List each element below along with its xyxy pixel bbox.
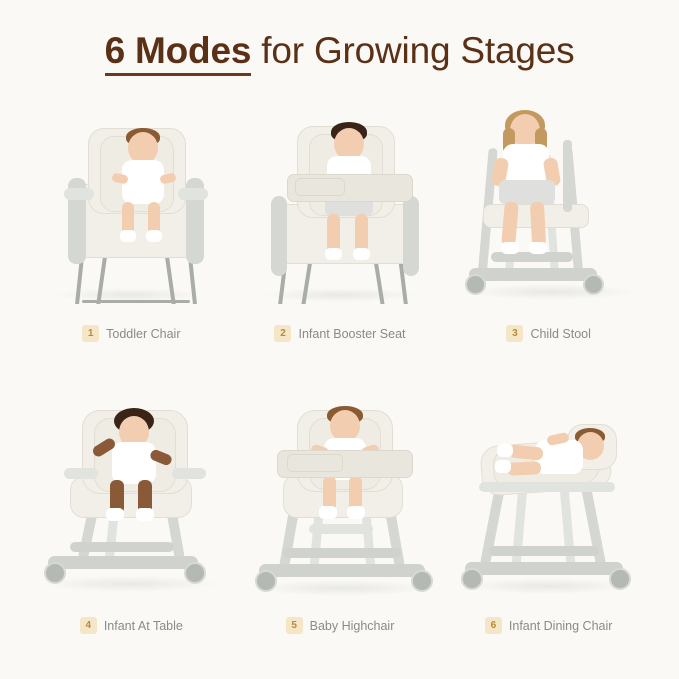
mode-badge-5: 5: [286, 617, 303, 634]
mode-card-1: 1 Toddler Chair: [30, 92, 233, 342]
mode-card-4: 4 Infant At Table: [30, 384, 233, 634]
mode-image-baby-highchair: [239, 384, 442, 596]
mode-label-4: Infant At Table: [104, 619, 183, 633]
mode-caption-5: 5 Baby Highchair: [239, 617, 442, 634]
mode-caption-3: 3 Child Stool: [447, 325, 650, 342]
mode-label-2: Infant Booster Seat: [298, 327, 405, 341]
modes-grid: 1 Toddler Chair: [30, 92, 650, 634]
mode-caption-4: 4 Infant At Table: [30, 617, 233, 634]
page-title-rest: for Growing Stages: [251, 30, 574, 71]
mode-image-child-stool: [447, 92, 650, 304]
mode-caption-1: 1 Toddler Chair: [30, 325, 233, 342]
mode-caption-6: 6 Infant Dining Chair: [447, 617, 650, 634]
mode-badge-1: 1: [82, 325, 99, 342]
mode-badge-2: 2: [274, 325, 291, 342]
mode-caption-2: 2 Infant Booster Seat: [239, 325, 442, 342]
product-modes-infographic: 6 Modes for Growing Stages: [0, 0, 679, 679]
mode-label-6: Infant Dining Chair: [509, 619, 613, 633]
mode-image-infant-at-table: [30, 384, 233, 596]
mode-image-infant-dining-chair: [447, 384, 650, 596]
mode-label-1: Toddler Chair: [106, 327, 180, 341]
mode-badge-3: 3: [506, 325, 523, 342]
mode-label-5: Baby Highchair: [310, 619, 395, 633]
mode-label-3: Child Stool: [530, 327, 590, 341]
page-title: 6 Modes for Growing Stages: [0, 30, 679, 72]
page-title-emphasis: 6 Modes: [105, 30, 252, 76]
mode-card-2: 2 Infant Booster Seat: [239, 92, 442, 342]
mode-badge-4: 4: [80, 617, 97, 634]
mode-image-infant-booster-seat: [239, 92, 442, 304]
mode-card-6: 6 Infant Dining Chair: [447, 384, 650, 634]
mode-badge-6: 6: [485, 617, 502, 634]
mode-card-5: 5 Baby Highchair: [239, 384, 442, 634]
mode-card-3: 3 Child Stool: [447, 92, 650, 342]
mode-image-toddler-chair: [30, 92, 233, 304]
